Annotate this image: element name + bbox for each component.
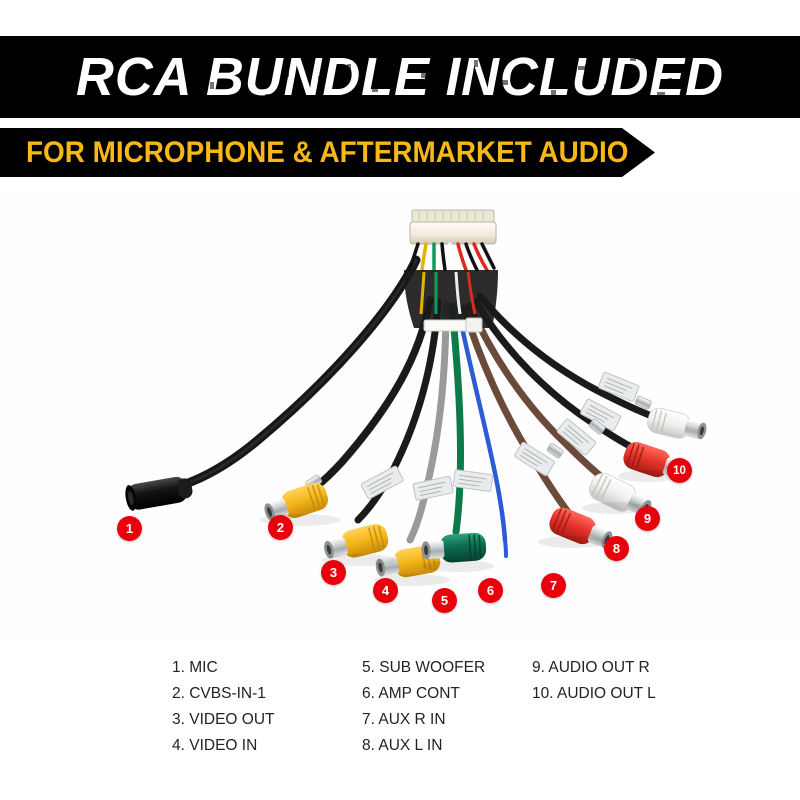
product-infographic: RCA BUNDLE INCLUDED FOR MICROPHONE & AFT… — [0, 0, 800, 800]
product-image — [0, 190, 800, 640]
connector-audio-out-l — [645, 406, 708, 445]
legend-item: 8. AUX L IN — [362, 733, 485, 759]
page-subtitle: FOR MICROPHONE & AFTERMARKET AUDIO — [26, 128, 628, 177]
badge-6: 6 — [478, 578, 503, 603]
legend-column-2: 5. SUB WOOFER 6. AMP CONT 7. AUX R IN 8.… — [362, 655, 485, 759]
badge-10: 10 — [667, 458, 692, 483]
badge-8: 8 — [604, 536, 629, 561]
badge-4: 4 — [373, 578, 398, 603]
legend-column-3: 9. AUDIO OUT R 10. AUDIO OUT L — [532, 655, 656, 707]
badge-1: 1 — [117, 516, 142, 541]
badge-7: 7 — [541, 573, 566, 598]
connector-mic — [124, 474, 194, 511]
badge-3: 3 — [321, 560, 346, 585]
legend-column-1: 1. MIC 2. CVBS-IN-1 3. VIDEO OUT 4. VIDE… — [172, 655, 275, 759]
connector-amp-cont — [505, 540, 506, 556]
badge-9: 9 — [635, 506, 660, 531]
legend-item: 3. VIDEO OUT — [172, 707, 275, 733]
legend-item: 1. MIC — [172, 655, 275, 681]
legend-item: 7. AUX R IN — [362, 707, 485, 733]
legend-item: 9. AUDIO OUT R — [532, 655, 656, 681]
badge-2: 2 — [268, 515, 293, 540]
badge-5: 5 — [432, 588, 457, 613]
harness-plug — [404, 210, 498, 332]
legend-item: 10. AUDIO OUT L — [532, 681, 656, 707]
legend-item: 5. SUB WOOFER — [362, 655, 485, 681]
legend-item: 6. AMP CONT — [362, 681, 485, 707]
legend-item: 4. VIDEO IN — [172, 733, 275, 759]
legend-item: 2. CVBS-IN-1 — [172, 681, 275, 707]
page-title: RCA BUNDLE INCLUDED — [12, 36, 788, 118]
